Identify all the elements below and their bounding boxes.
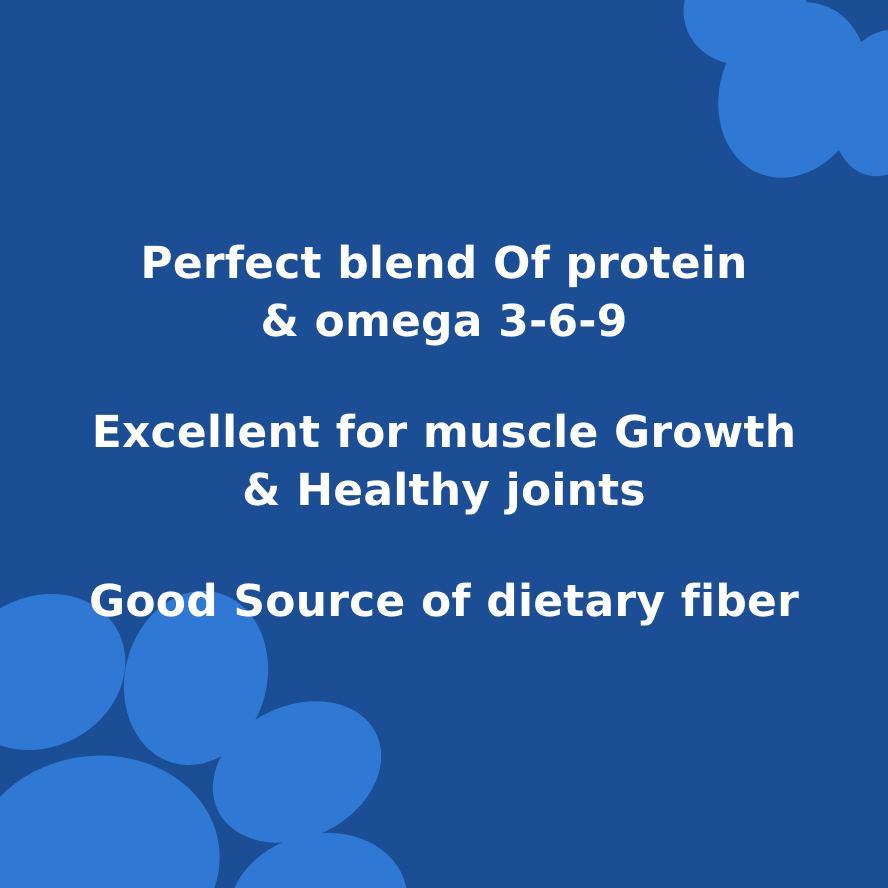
benefit-line: & omega 3-6-9 — [0, 293, 888, 352]
benefit-line: Good Source of dietary fiber — [0, 573, 888, 632]
benefit-line: Perfect blend Of protein — [0, 235, 888, 294]
poster-canvas: Perfect blend Of protein & omega 3-6-9 E… — [0, 0, 888, 888]
benefit-block-dietary-fiber: Good Source of dietary fiber — [0, 573, 888, 632]
benefit-block-protein-omega: Perfect blend Of protein & omega 3-6-9 — [0, 235, 888, 352]
benefit-block-muscle-joints: Excellent for muscle Growth & Healthy jo… — [0, 404, 888, 521]
benefit-block-spacer — [0, 521, 888, 573]
benefits-text-stack: Perfect blend Of protein & omega 3-6-9 E… — [0, 0, 888, 888]
benefit-line: Excellent for muscle Growth — [0, 404, 888, 463]
benefit-block-spacer — [0, 352, 888, 404]
benefit-line: & Healthy joints — [0, 462, 888, 521]
